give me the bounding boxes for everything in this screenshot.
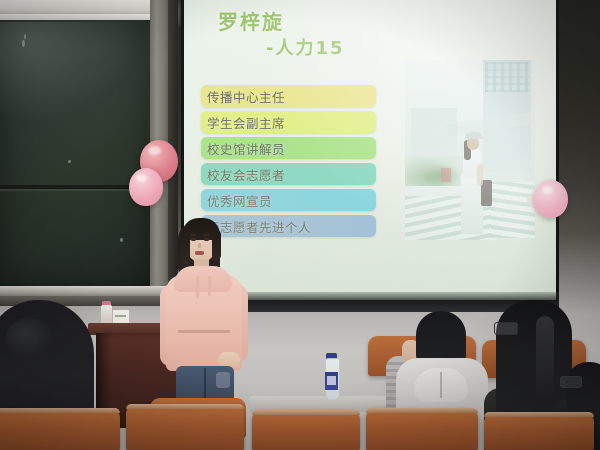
- seat-front-row: [126, 404, 244, 450]
- balloon-light-pink: [129, 168, 163, 206]
- audience-glasses-icon: [494, 322, 518, 335]
- photo-signboard: [441, 168, 451, 182]
- slide-bar-6: 际志愿者先进个人: [201, 215, 376, 237]
- photo-person-hat: [465, 132, 483, 139]
- speaker-nose: [198, 243, 201, 248]
- paper-note-text: [115, 315, 126, 317]
- speaker-hood-string-right: [208, 276, 211, 296]
- seat-front-row-edge: [0, 408, 120, 413]
- seat-front-row-edge: [366, 408, 478, 413]
- slide-bar-2: 学生会副主席: [201, 111, 376, 133]
- speaker-eye-right: [204, 238, 209, 241]
- seat-front-row: [252, 410, 360, 450]
- slide-title: 罗梓旋: [218, 6, 284, 35]
- seat-front-row-edge: [126, 404, 244, 409]
- speaker-jeans-patch: [216, 372, 230, 388]
- audience-white-hoodie-hood-seam: [440, 372, 442, 398]
- slide-bar-4: 校友会志愿者: [201, 163, 376, 185]
- balloon-right-pink: [534, 180, 568, 218]
- classroom-presentation-photo: 罗梓旋 -人力15 传播中心主任学生会副主席校史馆讲解员校友会志愿者优秀网宣员际…: [0, 0, 600, 450]
- seat-front-row: [484, 412, 594, 450]
- slide-bar-list: 传播中心主任学生会副主席校史馆讲解员校友会志愿者优秀网宣员际志愿者先进个人: [201, 85, 376, 241]
- slide-photo: [405, 60, 535, 240]
- photo-steps-right: [491, 182, 535, 238]
- audience-long-hair-sheen: [536, 316, 554, 400]
- speaker-hood-string-left: [196, 276, 199, 298]
- blackboard-glare: [0, 22, 150, 132]
- speaker-mouth: [195, 251, 204, 255]
- balloon-highlight: [148, 146, 161, 155]
- seat-front-row: [0, 408, 120, 450]
- water-bottle-lectern: [101, 305, 112, 325]
- speaker-eyebrow-right: [203, 234, 209, 236]
- chalk-mark: [24, 34, 26, 39]
- slide-bar-label: 优秀网宣员: [201, 191, 272, 210]
- speaker-hood: [174, 266, 232, 292]
- slide-bar-label: 校友会志愿者: [201, 165, 285, 184]
- water-bottle-desk-label-mark: [327, 376, 336, 385]
- slide-bar-1: 传播中心主任: [201, 85, 376, 107]
- chalk-mark: [22, 40, 25, 47]
- speaker-hoodie-pocket: [178, 330, 230, 333]
- audience-glasses-icon: [560, 376, 582, 388]
- slide-bar-5: 优秀网宣员: [201, 189, 376, 211]
- slide-bar-label: 传播中心主任: [201, 87, 285, 106]
- speaker-eyebrow-left: [190, 234, 196, 236]
- slide-bar-label: 校史馆讲解员: [201, 139, 285, 158]
- chalk-mark: [120, 238, 123, 242]
- slide-bar-label: 学生会副主席: [201, 113, 285, 132]
- speaker-hair-right: [212, 230, 221, 260]
- photo-person-arm: [477, 164, 483, 186]
- projection-screen: 罗梓旋 -人力15 传播中心主任学生会副主席校史馆讲解员校友会志愿者优秀网宣员际…: [184, 0, 556, 304]
- chalk-mark: [68, 160, 71, 163]
- seat-front-row-edge: [252, 410, 360, 415]
- balloon-highlight: [136, 174, 147, 182]
- audience-left-hair-highlight: [6, 318, 54, 358]
- speaker-eye-left: [191, 238, 196, 241]
- photo-building-windows: [485, 62, 529, 92]
- seat-front-row: [366, 408, 478, 450]
- speaker-hair-left: [181, 230, 190, 264]
- slide-subtitle: -人力15: [266, 34, 345, 60]
- seat-front-row-edge: [484, 412, 594, 417]
- slide-bar-3: 校史馆讲解员: [201, 137, 376, 159]
- balloon-highlight: [542, 186, 553, 194]
